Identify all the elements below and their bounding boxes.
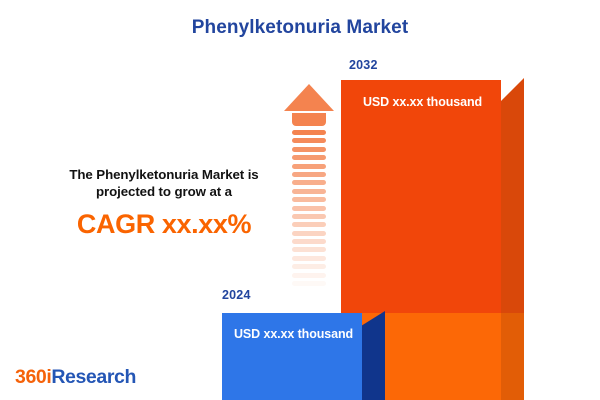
arrow-stripe [292, 147, 326, 152]
arrow-stripe [292, 164, 326, 169]
arrow-stripe [292, 222, 326, 227]
bar-label-2032: 2032 [349, 58, 378, 72]
arrow-stripe [292, 206, 326, 211]
arrow-neck [292, 113, 326, 126]
arrow-stripe [292, 273, 326, 278]
arrow-head-icon [284, 84, 334, 116]
logo-prefix: 360i [15, 366, 51, 388]
page-title: Phenylketonuria Market [0, 17, 600, 39]
arrow-stripe [292, 130, 326, 135]
bar-value-2024: USD xx.xx thousand [234, 327, 353, 341]
statement-line-1: The Phenylketonuria Market is [69, 167, 258, 182]
arrow-stripe [292, 247, 326, 252]
arrow-stripe [292, 189, 326, 194]
arrow-stripe [292, 289, 326, 294]
arrow-stripe [292, 264, 326, 269]
arrow-shaft-stripes [292, 130, 326, 294]
arrow-stripe [292, 155, 326, 160]
bar-value-2032: USD xx.xx thousand [363, 95, 482, 109]
arrow-stripe [292, 180, 326, 185]
arrow-stripe [292, 172, 326, 177]
brand-logo: 360iResearch [15, 366, 136, 389]
arrow-stripe [292, 281, 326, 286]
statement-text: The Phenylketonuria Market is projected … [44, 166, 284, 200]
arrow-stripe [292, 256, 326, 261]
bar-2024 [222, 311, 385, 400]
infographic-canvas: Phenylketonuria Market The Phenylketonur… [0, 0, 600, 400]
growth-statement: The Phenylketonuria Market is projected … [44, 166, 284, 240]
bar-2024-side-face [361, 311, 385, 400]
arrow-stripe [292, 197, 326, 202]
arrow-stripe [292, 231, 326, 236]
logo-suffix: Research [51, 366, 136, 388]
bar-label-2024: 2024 [222, 288, 251, 302]
growth-arrow-icon [284, 84, 334, 294]
statement-line-2: projected to grow at a [96, 184, 232, 199]
cagr-value: CAGR xx.xx% [44, 209, 284, 240]
arrow-stripe [292, 214, 326, 219]
bar-2032-side-face-lower [500, 313, 524, 400]
arrow-stripe [292, 138, 326, 143]
arrow-stripe [292, 239, 326, 244]
